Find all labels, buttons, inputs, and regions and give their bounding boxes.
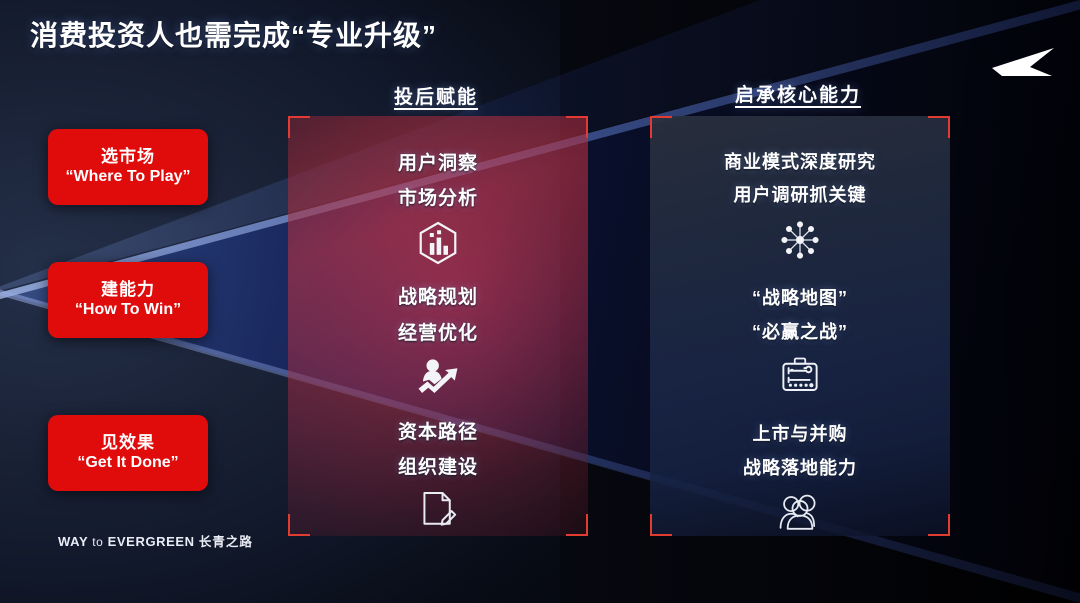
- person-growth-arrow-icon: [415, 354, 461, 402]
- capability-line: 经营优化: [398, 316, 478, 351]
- capability-group: 商业模式深度研究 用户调研抓关键: [724, 146, 876, 264]
- badge-how-to-win[interactable]: 建能力 “How To Win”: [48, 262, 208, 338]
- radial-network-icon: [778, 216, 822, 264]
- people-group-icon: [777, 488, 823, 536]
- slide-canvas: 消费投资人也需完成“专业升级” 选市场 “Where To Play” 建能力 …: [0, 0, 1080, 603]
- footer-way: WAY: [58, 534, 88, 549]
- capability-line: 上市与并购: [753, 418, 848, 451]
- capability-group: 资本路径 组织建设: [398, 415, 478, 536]
- panel-header-right: 启承核心能力: [735, 80, 861, 107]
- badge-label-en: “Where To Play”: [65, 167, 190, 188]
- capability-line: 商业模式深度研究: [724, 146, 876, 179]
- panel-card-left: 用户洞察 市场分析 战略规划 经营优化: [288, 116, 588, 536]
- panel-header-left: 投后赋能: [394, 82, 478, 109]
- badge-label-cn: 见效果: [101, 432, 155, 453]
- badge-label-en: “Get It Done”: [77, 453, 178, 474]
- panel-card-right: 商业模式深度研究 用户调研抓关键: [650, 116, 950, 536]
- capability-group: 上市与并购 战略落地能力: [743, 418, 857, 536]
- capability-line: 资本路径: [398, 415, 478, 450]
- capability-line: 用户调研抓关键: [734, 179, 867, 212]
- brand-footer: WAY to EVERGREEN 长青之路: [58, 531, 253, 550]
- capability-group: “战略地图” “必赢之战”: [752, 282, 848, 400]
- badge-get-it-done[interactable]: 见效果 “Get It Done”: [48, 415, 208, 491]
- badge-where-to-play[interactable]: 选市场 “Where To Play”: [48, 129, 208, 205]
- footer-to: to: [92, 535, 103, 549]
- capability-line: 市场分析: [398, 181, 478, 216]
- hexagon-bar-chart-icon: [418, 219, 458, 267]
- capability-line: 用户洞察: [398, 146, 478, 181]
- footer-brand-cn: 长青之路: [199, 535, 253, 549]
- arrow-left-logo-icon: [990, 46, 1058, 88]
- badge-label-cn: 选市场: [101, 146, 155, 167]
- capability-line: “必赢之战”: [752, 316, 848, 349]
- capability-line: 战略落地能力: [743, 452, 857, 485]
- capability-line: 战略规划: [398, 280, 478, 315]
- document-edit-icon: [419, 488, 457, 536]
- capability-line: 组织建设: [398, 450, 478, 485]
- badge-label-en: “How To Win”: [75, 300, 181, 321]
- page-title: 消费投资人也需完成“专业升级”: [30, 14, 437, 54]
- capability-group: 用户洞察 市场分析: [398, 146, 478, 267]
- footer-brand: EVERGREEN: [108, 534, 195, 549]
- capability-line: “战略地图”: [752, 282, 848, 315]
- toolbox-wrench-icon: [779, 352, 821, 400]
- badge-label-cn: 建能力: [101, 279, 155, 300]
- capability-group: 战略规划 经营优化: [398, 280, 478, 401]
